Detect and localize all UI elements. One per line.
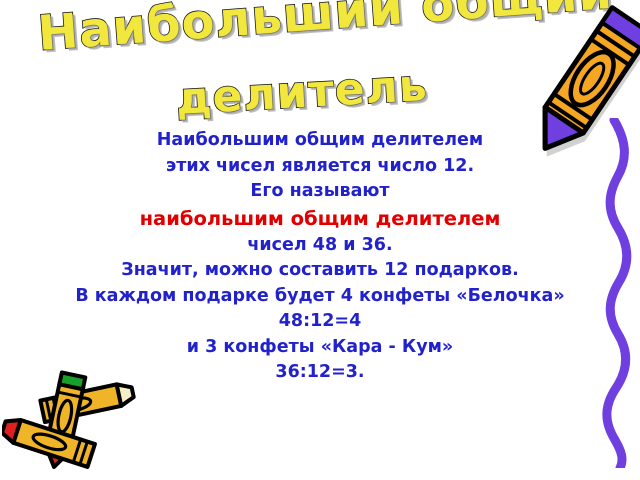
body-line: и 3 конфеты «Кара - Кум» <box>0 335 640 361</box>
body-text-block: Наибольшим общим делителем этих чисел яв… <box>0 128 640 386</box>
title-line-1: Наибольший общий <box>36 0 615 62</box>
body-line-emphasis: наибольшим общим делителем <box>0 205 640 233</box>
title-line-2: делитель <box>175 60 429 125</box>
body-line: 48:12=4 <box>0 309 640 335</box>
body-line: В каждом подарке будет 4 конфеты «Белочк… <box>0 284 640 310</box>
body-line: чисел 48 и 36. <box>0 233 640 259</box>
body-line: Значит, можно составить 12 подарков. <box>0 258 640 284</box>
body-line: Наибольшим общим делителем <box>0 128 640 154</box>
page-title: Наибольший общий делитель <box>0 0 640 128</box>
slide-canvas: Наибольший общий делитель Наибольшим общ… <box>0 0 640 480</box>
body-line: 36:12=3. <box>0 360 640 386</box>
body-line: Его называют <box>0 179 640 205</box>
body-line: этих чисел является число 12. <box>0 154 640 180</box>
